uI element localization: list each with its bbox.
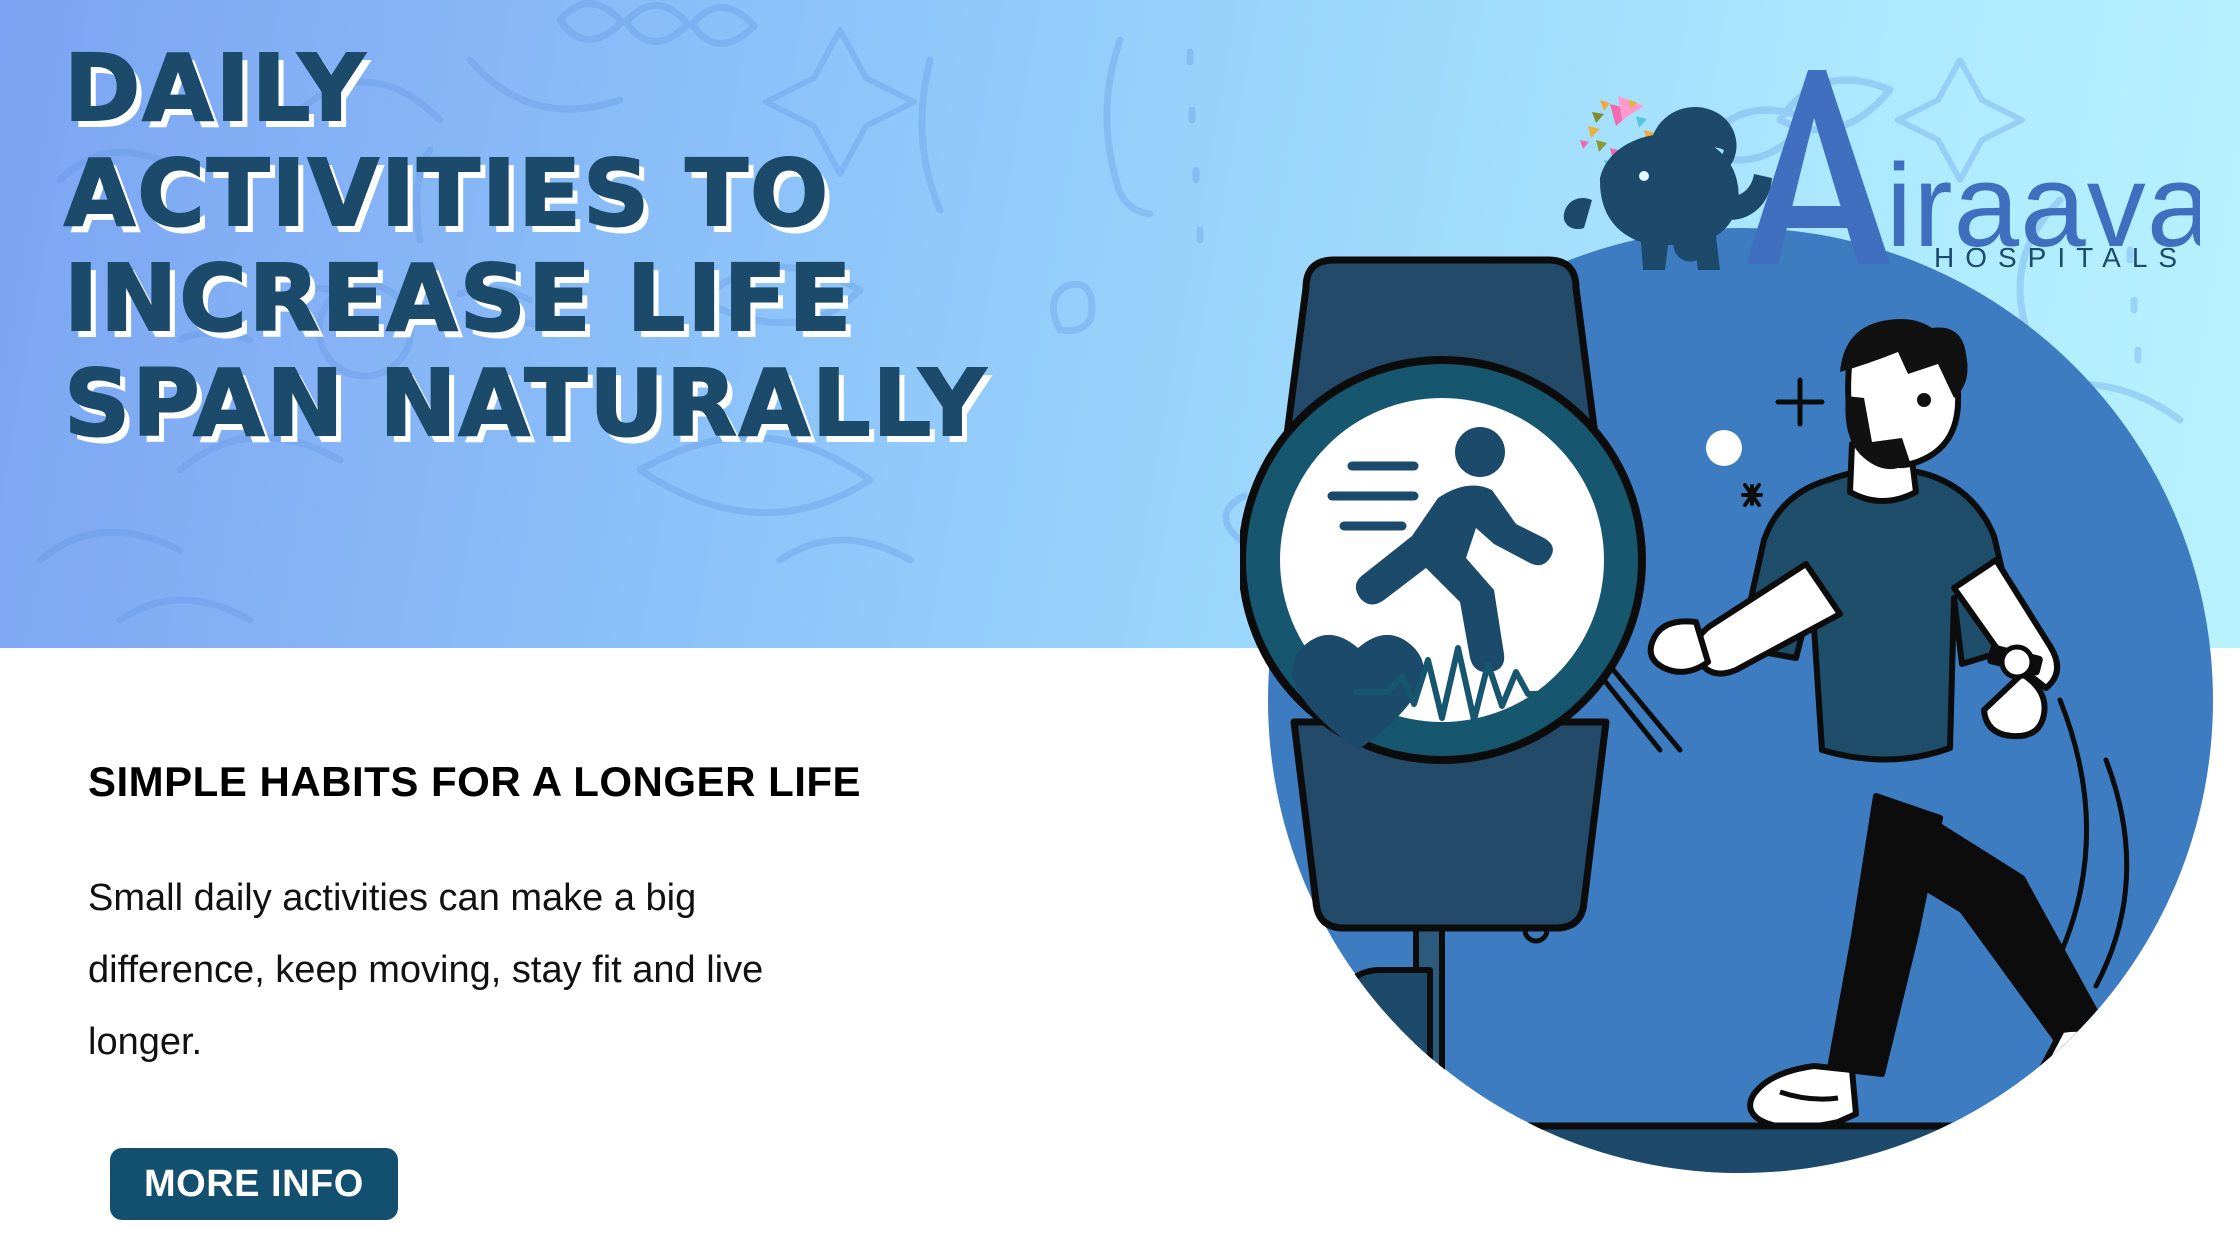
runner-fist-back (1984, 674, 2045, 736)
runner-eye (1917, 393, 1931, 407)
headline-line-1: DAILY (64, 36, 1204, 141)
page-title: DAILY ACTIVITIES TO INCREASE LIFE SPAN N… (64, 36, 1204, 456)
treadmill-belt (1380, 1126, 2180, 1184)
headline-line-2: ACTIVITIES TO (64, 141, 1204, 246)
body-copy: Small daily activities can make a big di… (88, 862, 788, 1078)
headline-line-3: INCREASE LIFE (64, 246, 1204, 351)
fitness-illustration (1240, 230, 2240, 1260)
more-info-button[interactable]: MORE INFO (110, 1148, 398, 1220)
smartwatch (1242, 260, 1642, 928)
runner-fist-front (1651, 621, 1708, 672)
subheading: SIMPLE HABITS FOR A LONGER LIFE (88, 758, 861, 806)
dot-icon (1706, 430, 1742, 466)
treadmill-motor-housing (1342, 970, 1430, 1182)
shoe-back (2042, 1029, 2135, 1096)
promo-banner: DAILY ACTIVITIES TO INCREASE LIFE SPAN N… (0, 0, 2240, 1260)
sparkle-cross-icon (1778, 380, 1822, 424)
headline-line-4: SPAN NATURALLY (64, 351, 1204, 456)
burst-icon (1743, 485, 1761, 505)
